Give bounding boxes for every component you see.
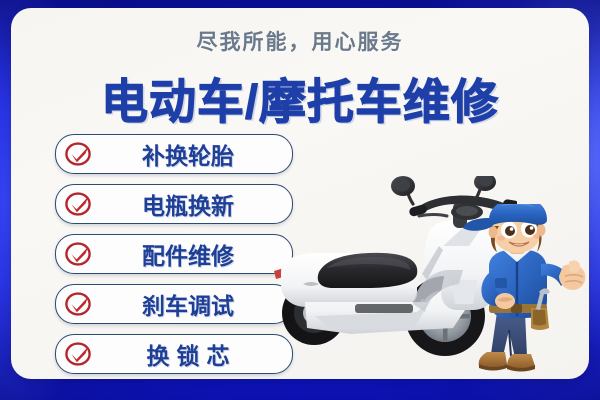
mechanic-character-illustration <box>449 204 589 379</box>
service-label: 配件维修 <box>94 237 292 271</box>
service-label: 换锁芯 <box>94 337 292 371</box>
service-label: 电瓶换新 <box>94 187 292 221</box>
service-label: 刹车调试 <box>94 287 292 321</box>
check-circle-icon <box>64 239 94 269</box>
check-circle-icon <box>64 189 94 219</box>
poster-card: 尽我所能，用心服务 电动车/摩托车维修 补换轮胎 <box>11 8 589 379</box>
check-circle-icon <box>64 139 94 169</box>
poster-subtitle: 尽我所能，用心服务 <box>11 26 589 56</box>
service-item-battery[interactable]: 电瓶换新 <box>55 184 293 224</box>
service-label: 补换轮胎 <box>94 137 292 171</box>
poster-title: 电动车/摩托车维修 <box>11 63 589 132</box>
service-item-parts[interactable]: 配件维修 <box>55 234 293 274</box>
check-circle-icon <box>64 339 94 369</box>
service-item-lock[interactable]: 换锁芯 <box>55 334 293 374</box>
service-item-brake[interactable]: 刹车调试 <box>55 284 293 324</box>
service-item-tire[interactable]: 补换轮胎 <box>55 134 293 174</box>
check-circle-icon <box>64 289 94 319</box>
service-list: 补换轮胎 电瓶换新 配件维修 <box>55 134 293 379</box>
poster-root: 尽我所能，用心服务 电动车/摩托车维修 补换轮胎 <box>0 0 600 400</box>
